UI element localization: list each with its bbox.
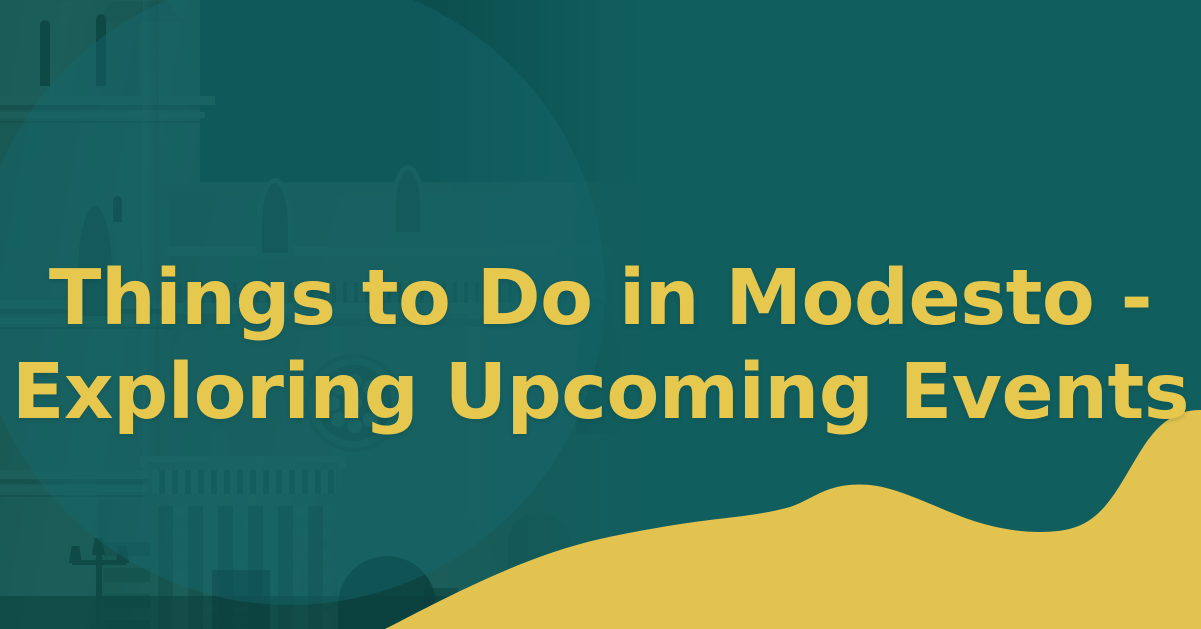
page-title: Things to Do in Modesto - Exploring Upco… (0, 252, 1201, 440)
banner-canvas: Things to Do in Modesto - Exploring Upco… (0, 0, 1201, 629)
